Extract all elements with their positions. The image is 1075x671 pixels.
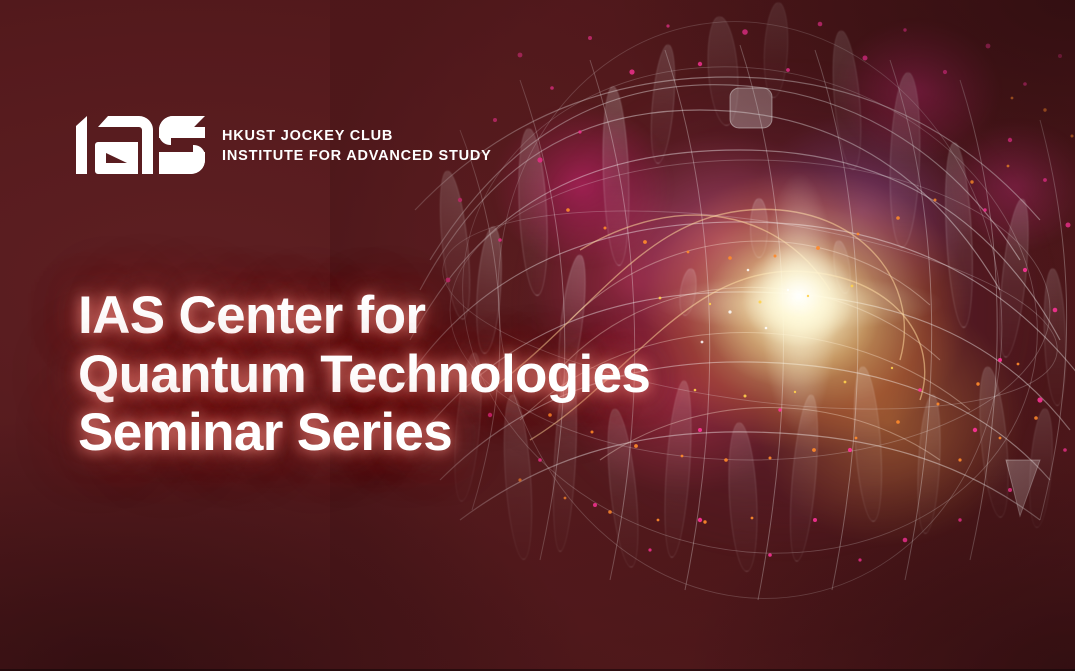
ias-logo-mark xyxy=(74,116,206,174)
title-line-1: IAS Center for xyxy=(78,287,698,346)
seminar-series-poster: HKUST JOCKEY CLUB INSTITUTE FOR ADVANCED… xyxy=(0,0,1075,671)
logo-line-1: HKUST JOCKEY CLUB xyxy=(222,128,492,145)
page-title: IAS Center for Quantum Technologies Semi… xyxy=(78,287,698,463)
title-line-3: Seminar Series xyxy=(78,404,698,463)
logo-line-2: INSTITUTE FOR ADVANCED STUDY xyxy=(222,148,492,165)
ias-logo: HKUST JOCKEY CLUB INSTITUTE FOR ADVANCED… xyxy=(74,116,492,174)
title-line-2: Quantum Technologies xyxy=(78,346,698,405)
ias-logo-wordmark: HKUST JOCKEY CLUB INSTITUTE FOR ADVANCED… xyxy=(222,126,492,164)
